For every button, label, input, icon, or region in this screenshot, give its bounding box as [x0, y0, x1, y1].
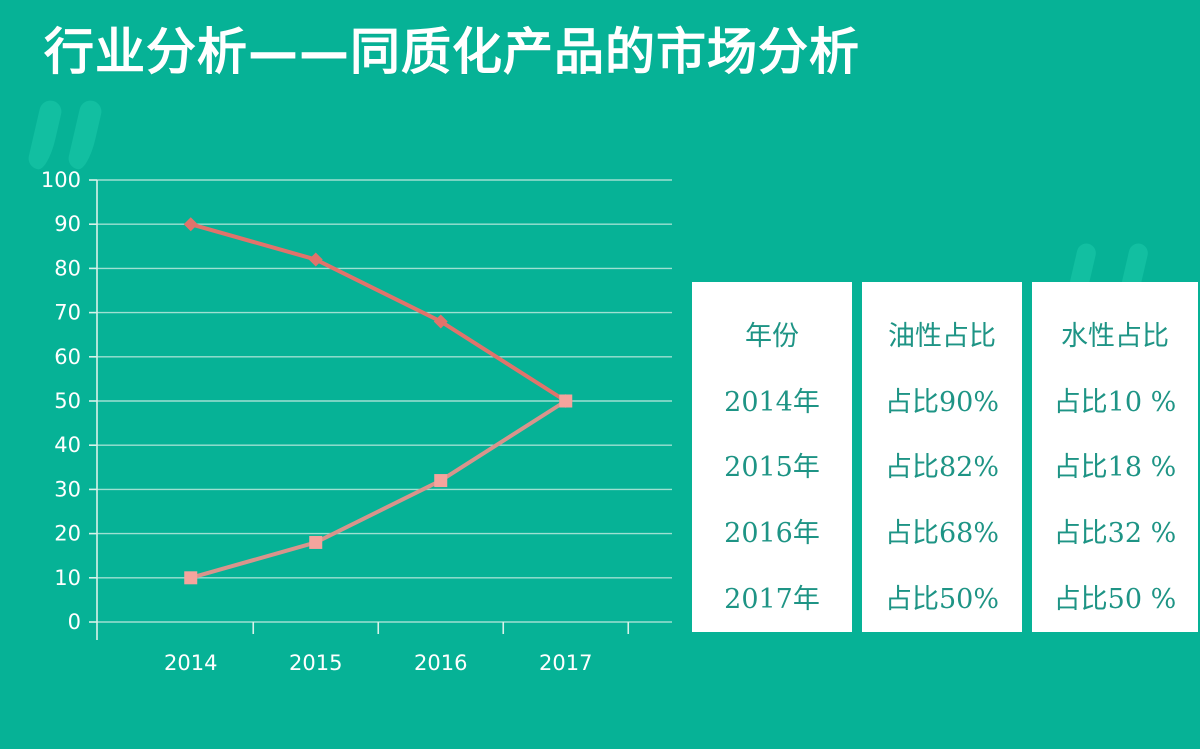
- chart-x-axis-labels: 2014201520162017: [164, 651, 592, 675]
- line-chart: 0102030405060708090100 2014201520162017 …: [0, 160, 680, 680]
- chart-gridlines: [97, 180, 672, 622]
- chart-y-axis-labels: 0102030405060708090100: [41, 168, 81, 634]
- data-table: 年份 2014年 2015年 2016年 2017年 油性占比 占比90% 占比…: [692, 282, 1198, 632]
- svg-text:60: 60: [54, 345, 81, 369]
- svg-text:0: 0: [68, 610, 81, 634]
- svg-text:80: 80: [54, 256, 81, 280]
- chart-svg: 0102030405060708090100 2014201520162017 …: [0, 160, 680, 680]
- table-column-oil-share: 油性占比 占比90% 占比82% 占比68% 占比50%: [862, 282, 1022, 632]
- svg-text:2016: 2016: [414, 651, 467, 675]
- table-cell-oil-0: 占比90%: [885, 370, 999, 436]
- table-cell-water-0: 占比10 %: [1054, 370, 1177, 436]
- svg-text:100: 100: [41, 168, 81, 192]
- svg-text:2014: 2014: [164, 651, 217, 675]
- svg-text:40: 40: [54, 433, 81, 457]
- page-title: 行业分析——同质化产品的市场分析: [44, 22, 860, 82]
- chart-axes: [89, 180, 628, 640]
- svg-text:20: 20: [54, 522, 81, 546]
- svg-text:90: 90: [54, 212, 81, 236]
- table-header-water-share: 水性占比: [1061, 304, 1169, 370]
- slide-canvas: 行业分析——同质化产品的市场分析 0102030405060708090100 …: [0, 0, 1200, 749]
- table-header-oil-share: 油性占比: [888, 304, 996, 370]
- table-cell-water-1: 占比18 %: [1054, 435, 1177, 501]
- table-cell-water-2: 占比32 %: [1054, 501, 1177, 567]
- table-header-year: 年份: [745, 304, 799, 370]
- table-cell-year-0: 2014年: [724, 370, 820, 436]
- table-column-water-share: 水性占比 占比10 % 占比18 % 占比32 % 占比50 %: [1032, 282, 1198, 632]
- table-cell-year-3: 2017年: [724, 566, 820, 632]
- table-cell-water-3: 占比50 %: [1054, 566, 1177, 632]
- svg-text:30: 30: [54, 477, 81, 501]
- svg-text:2015: 2015: [289, 651, 342, 675]
- table-cell-year-1: 2015年: [724, 435, 820, 501]
- svg-text:10: 10: [54, 566, 81, 590]
- svg-text:70: 70: [54, 301, 81, 325]
- table-cell-oil-2: 占比68%: [885, 501, 999, 567]
- table-column-year: 年份 2014年 2015年 2016年 2017年: [692, 282, 852, 632]
- table-cell-oil-1: 占比82%: [885, 435, 999, 501]
- svg-text:50: 50: [54, 389, 81, 413]
- svg-text:2017: 2017: [539, 651, 592, 675]
- table-cell-oil-3: 占比50%: [885, 566, 999, 632]
- table-cell-year-2: 2016年: [724, 501, 820, 567]
